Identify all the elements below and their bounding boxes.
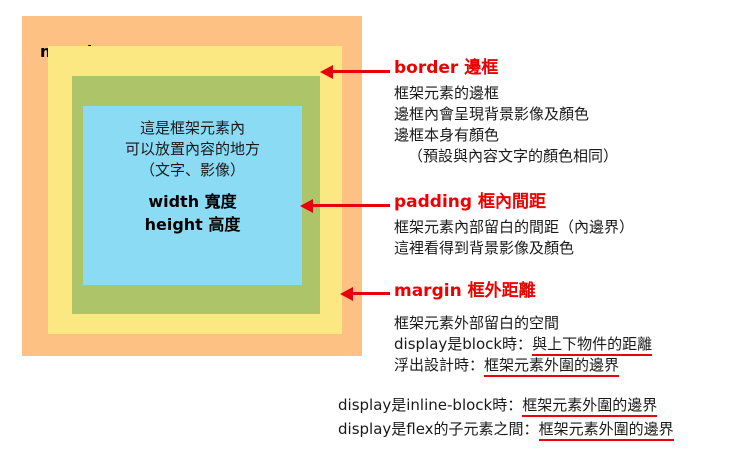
margin-box: margin border padding 這是框架元素內 可以放置內容的地方 … (22, 16, 362, 356)
annotation-border-body: 框架元素的邊框 邊框內會呈現背景影像及顏色 邊框本身有顏色 （預設與內容文字的顏… (394, 83, 618, 167)
annotation-margin-line-3-underlined: 框架元素外圍的邊界 (484, 356, 619, 377)
annotation-border-line-1: 框架元素的邊框 (394, 83, 618, 104)
arrowshaft-border (332, 70, 390, 73)
annotation-margin-title: margin 框外距離 (394, 281, 652, 301)
footer-line-1-underlined: 框架元素外圍的邊界 (522, 396, 657, 417)
annotation-padding-line-1: 框架元素內部留白的間距（內邊界） (394, 217, 634, 238)
content-width-label: width 寬度 (148, 190, 236, 213)
annotation-padding: padding 框內間距 框架元素內部留白的間距（內邊界） 這裡看得到背景影像及… (394, 192, 634, 259)
annotation-margin-line-2: display是block時：與上下物件的距離 (394, 334, 652, 355)
content-text-line-1: 這是框架元素內 (140, 118, 245, 139)
arrow-left-icon-margin (340, 287, 390, 301)
padding-box: padding 這是框架元素內 可以放置內容的地方 （文字、影像） width … (72, 76, 320, 314)
content-height-label: height 高度 (145, 213, 241, 236)
annotation-margin-line-1: 框架元素外部留白的空間 (394, 313, 652, 334)
annotation-border-title: border 邊框 (394, 58, 618, 78)
annotation-margin-line-3-prefix: 浮出設計時： (394, 356, 484, 374)
footer-line-2-underlined: 框架元素外圍的邊界 (539, 420, 674, 441)
annotation-margin-line-2-underlined: 與上下物件的距離 (532, 335, 652, 356)
annotation-margin: margin 框外距離 框架元素外部留白的空間 display是block時：與… (394, 281, 652, 376)
content-text-line-2: 可以放置內容的地方 (125, 139, 260, 160)
annotation-border: border 邊框 框架元素的邊框 邊框內會呈現背景影像及顏色 邊框本身有顏色 … (394, 58, 618, 167)
content-box: 這是框架元素內 可以放置內容的地方 （文字、影像） width 寬度 heigh… (83, 106, 302, 285)
annotation-padding-body: 框架元素內部留白的間距（內邊界） 這裡看得到背景影像及顏色 (394, 217, 634, 259)
box-model-diagram-canvas: margin border padding 這是框架元素內 可以放置內容的地方 … (0, 0, 750, 461)
annotation-border-line-3: 邊框本身有顏色 (394, 125, 618, 146)
content-text-line-3: （文字、影像） (140, 160, 245, 181)
arrowshaft-margin (352, 292, 390, 295)
footer-line-2: display是flex的子元素之間：框架元素外圍的邊界 (338, 417, 674, 441)
footer-line-1: display是inline-block時：框架元素外圍的邊界 (338, 393, 674, 417)
arrow-left-icon-border (320, 65, 390, 79)
footer-notes: display是inline-block時：框架元素外圍的邊界 display是… (338, 393, 674, 441)
annotation-padding-line-2: 這裡看得到背景影像及顏色 (394, 238, 634, 259)
annotation-padding-title: padding 框內間距 (394, 192, 634, 212)
annotation-border-line-4: （預設與內容文字的顏色相同） (394, 146, 618, 167)
border-box: border padding 這是框架元素內 可以放置內容的地方 （文字、影像）… (48, 46, 342, 334)
annotation-border-line-2: 邊框內會呈現背景影像及顏色 (394, 104, 618, 125)
annotation-margin-body: 框架元素外部留白的空間 display是block時：與上下物件的距離 浮出設計… (394, 313, 652, 376)
annotation-margin-line-2-prefix: display是block時： (394, 335, 532, 353)
arrow-left-icon-padding (300, 199, 390, 213)
footer-line-1-prefix: display是inline-block時： (338, 396, 522, 414)
arrowshaft-padding (312, 204, 390, 207)
annotation-margin-line-3: 浮出設計時：框架元素外圍的邊界 (394, 355, 652, 376)
footer-line-2-prefix: display是flex的子元素之間： (338, 420, 539, 438)
